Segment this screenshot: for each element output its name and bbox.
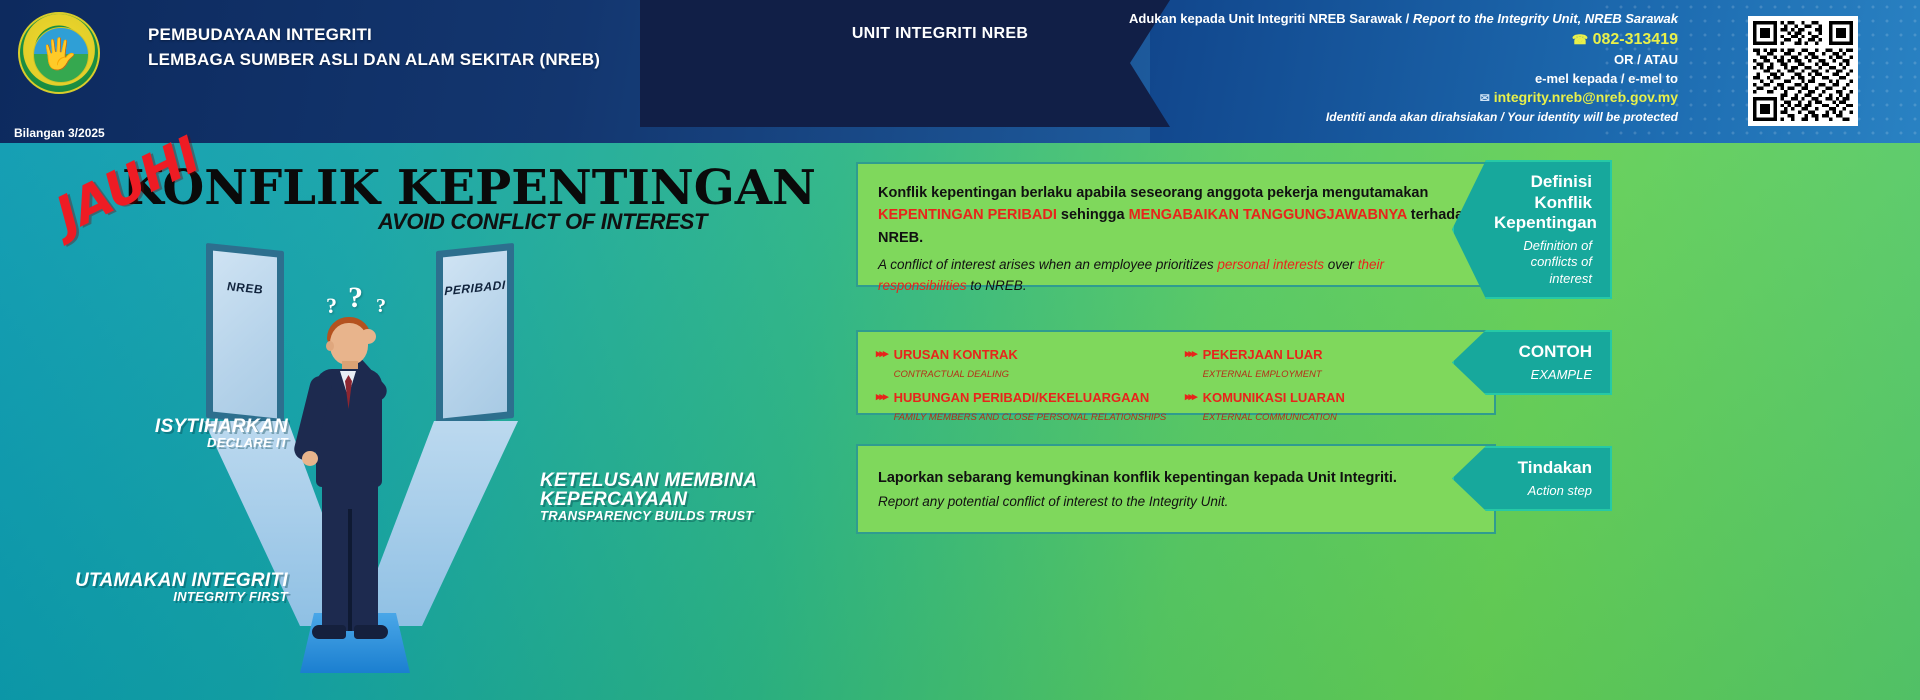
phone-icon: ☎: [1572, 32, 1588, 47]
action-card: Laporkan sebarang kemungkinan konflik ke…: [856, 444, 1496, 534]
example-label-en: CONTRACTUAL DEALING: [894, 369, 1009, 380]
action-text-en: Report any potential conflict of interes…: [858, 486, 1494, 509]
report-label-en: Report to the Integrity Unit, NREB Saraw…: [1413, 11, 1678, 26]
definition-my-mid: sehingga: [1057, 207, 1129, 223]
action-text-my: Laporkan sebarang kemungkinan konflik ke…: [858, 446, 1494, 486]
report-label-my: Adukan kepada Unit Integriti NREB Sarawa…: [1129, 11, 1402, 26]
label-trust-my: KETELUSAN MEMBINA KEPERCAYAAN: [540, 471, 840, 509]
example-label-en: EXTERNAL EMPLOYMENT: [1203, 369, 1322, 380]
header-contact-block: Adukan kepada Unit Integriti NREB Sarawa…: [1058, 10, 1678, 125]
qr-code-icon: [1753, 21, 1853, 121]
report-line: Adukan kepada Unit Integriti NREB Sarawa…: [1058, 10, 1678, 28]
or-label: OR / ATAU: [1058, 51, 1678, 69]
tab-action-label-my: Tindakan: [1494, 458, 1592, 479]
definition-my-highlight-2: MENGABAIKAN TANGGUNGJAWABNYA: [1129, 207, 1407, 223]
question-mark-icon: ?: [348, 281, 363, 315]
example-label-my: HUBUNGAN PERIBADI/KEKELUARGAAN: [894, 390, 1150, 405]
label-integrity-first: UTAMAKAN INTEGRITI INTEGRITY FIRST: [28, 571, 288, 603]
example-label-en: FAMILY MEMBERS AND CLOSE PERSONAL RELATI…: [894, 412, 1167, 423]
header-organisation-title: PEMBUDAYAAN INTEGRITI LEMBAGA SUMBER ASL…: [148, 23, 600, 72]
report-separator: /: [1402, 11, 1413, 26]
privacy-note: Identiti anda akan dirahsiakan / Your id…: [1058, 109, 1678, 125]
arrows-icon: ▸▸▸: [1185, 389, 1196, 403]
tab-definition-label-en: Definition of conflicts of interest: [1494, 238, 1592, 287]
phone-number[interactable]: 082-313419: [1593, 31, 1678, 48]
envelope-icon: ✉: [1480, 91, 1490, 105]
examples-card: ▸▸▸ URUSAN KONTRAK CONTRACTUAL DEALING ▸…: [856, 330, 1496, 415]
person-illustration: ? ? ?: [296, 303, 406, 663]
page-header: 🖐 PEMBUDAYAAN INTEGRITI LEMBAGA SUMBER A…: [0, 0, 1920, 143]
examples-column-left: ▸▸▸ URUSAN KONTRAK CONTRACTUAL DEALING ▸…: [876, 346, 1167, 432]
header-org-line2: LEMBAGA SUMBER ASLI DAN ALAM SEKITAR (NR…: [148, 48, 600, 73]
definition-en-post: to NREB.: [967, 278, 1027, 293]
label-integrity-my: UTAMAKAN INTEGRITI: [28, 571, 288, 590]
label-transparency-trust: KETELUSAN MEMBINA KEPERCAYAAN TRANSPAREN…: [540, 471, 840, 522]
tab-action[interactable]: Tindakan Action step: [1452, 446, 1612, 511]
example-label-my: KOMUNIKASI LUARAN: [1203, 390, 1345, 405]
definition-en-pre: A conflict of interest arises when an em…: [878, 257, 1217, 272]
doors-illustration: NREB PERIBADI ? ? ? ISYTIHARKAN DECLARE …: [0, 143, 860, 700]
label-declare-en: DECLARE IT: [88, 436, 288, 449]
example-item: ▸▸▸ URUSAN KONTRAK CONTRACTUAL DEALING: [876, 346, 1167, 382]
page-title: KONFLIK KEPENTINGAN: [122, 160, 816, 216]
phone-line[interactable]: ☎ 082-313419: [1058, 29, 1678, 51]
label-declare-it: ISYTIHARKAN DECLARE IT: [88, 417, 288, 449]
arrows-icon: ▸▸▸: [876, 389, 887, 403]
example-item: ▸▸▸ KOMUNIKASI LUARAN EXTERNAL COMMUNICA…: [1185, 389, 1476, 425]
tab-example[interactable]: CONTOH EXAMPLE: [1452, 330, 1612, 395]
tab-definition-label-my: Definisi Konflik Kepentingan: [1494, 172, 1592, 234]
tab-example-label-my: CONTOH: [1494, 342, 1592, 363]
example-item: ▸▸▸ HUBUNGAN PERIBADI/KEKELUARGAAN FAMIL…: [876, 389, 1167, 425]
definition-text-en: A conflict of interest arises when an em…: [858, 249, 1494, 296]
header-org-line1: PEMBUDAYAAN INTEGRITI: [148, 23, 600, 48]
label-declare-my: ISYTIHARKAN: [88, 417, 288, 436]
qr-code[interactable]: [1748, 16, 1858, 126]
example-label-en: EXTERNAL COMMUNICATION: [1203, 412, 1337, 423]
definition-text-my: Konflik kepentingan berlaku apabila sese…: [858, 164, 1494, 249]
nreb-logo-icon: 🖐: [18, 12, 100, 94]
definition-en-mid: over: [1324, 257, 1358, 272]
door-nreb: NREB: [206, 243, 284, 426]
email-label: e-mel kepada / e-mel to: [1058, 70, 1678, 88]
door-peribadi: PERIBADI: [436, 243, 514, 426]
example-label-my: URUSAN KONTRAK: [894, 347, 1018, 362]
header-issue-number: Bilangan 3/2025: [14, 126, 105, 140]
examples-column-right: ▸▸▸ PEKERJAAN LUAR EXTERNAL EMPLOYMENT ▸…: [1185, 346, 1476, 432]
arrows-icon: ▸▸▸: [1185, 346, 1196, 360]
definition-en-highlight-1: personal interests: [1217, 257, 1324, 272]
email-address[interactable]: integrity.nreb@nreb.gov.my: [1494, 89, 1678, 105]
definition-card: Konflik kepentingan berlaku apabila sese…: [856, 162, 1496, 287]
tab-example-label-en: EXAMPLE: [1494, 367, 1592, 383]
example-item: ▸▸▸ PEKERJAAN LUAR EXTERNAL EMPLOYMENT: [1185, 346, 1476, 382]
tab-action-label-en: Action step: [1494, 483, 1592, 499]
arrows-icon: ▸▸▸: [876, 346, 887, 360]
question-mark-icon: ?: [326, 293, 337, 319]
question-mark-icon: ?: [376, 295, 386, 318]
definition-my-pre: Konflik kepentingan berlaku apabila sese…: [878, 185, 1428, 201]
example-label-my: PEKERJAAN LUAR: [1203, 347, 1323, 362]
definition-my-highlight-1: KEPENTINGAN PERIBADI: [878, 207, 1057, 223]
tab-definition[interactable]: Definisi Konflik Kepentingan Definition …: [1452, 160, 1612, 299]
header-unit-title: UNIT INTEGRITI NREB: [790, 25, 1090, 43]
email-line[interactable]: ✉ integrity.nreb@nreb.gov.my: [1058, 88, 1678, 107]
label-trust-en: TRANSPARENCY BUILDS TRUST: [540, 509, 840, 522]
label-integrity-en: INTEGRITY FIRST: [28, 590, 288, 603]
